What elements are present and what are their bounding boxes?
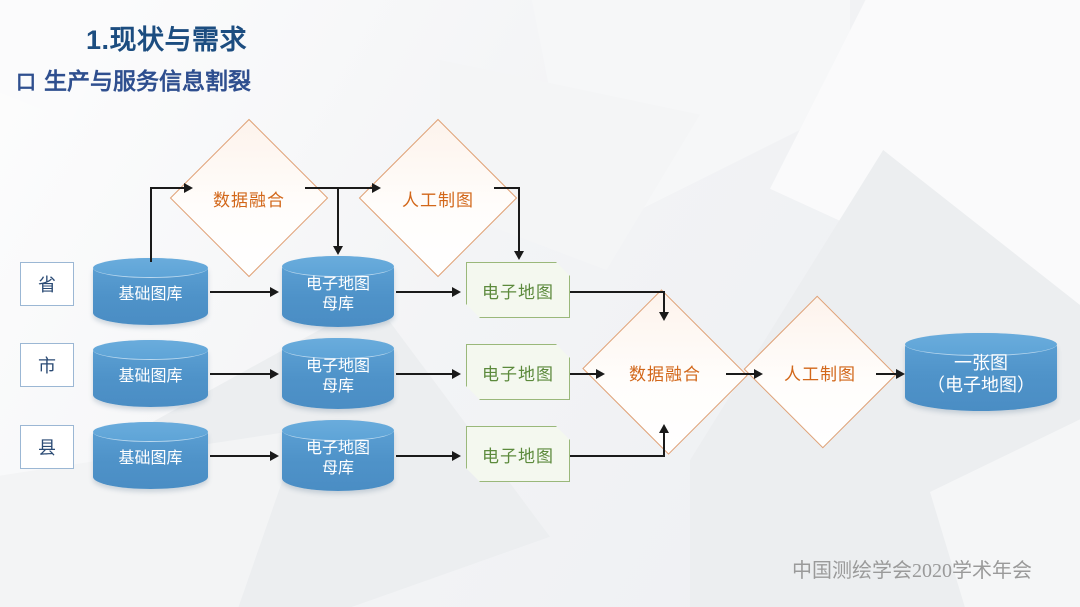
node-label-line1: 电子地图	[306, 440, 370, 457]
node-label-line2: 母库	[322, 296, 354, 313]
arrow-head	[372, 183, 381, 193]
level-label-city: 市	[20, 343, 74, 387]
connector-line	[150, 187, 152, 262]
node-label: 数据融合	[213, 186, 285, 211]
background-facet	[770, 0, 1080, 340]
node-label: 基础图库	[118, 443, 182, 469]
square-bullet-icon: 口	[16, 72, 36, 94]
node-map-master-library-province: 电子地图 母库	[282, 256, 394, 327]
slide-canvas: 1.现状与需求 口生产与服务信息割裂 省 市 县 基础图库 电子地图 母库 电子…	[0, 0, 1080, 607]
connector-line	[210, 373, 272, 375]
connector-line	[494, 187, 520, 189]
node-label: 电子地图 母库	[306, 269, 370, 314]
node-base-library-province: 基础图库	[93, 258, 208, 325]
node-label-line2: 母库	[322, 460, 354, 477]
node-electronic-map-province: 电子地图	[466, 262, 570, 318]
slide-subtitle: 口生产与服务信息割裂	[16, 62, 251, 96]
node-label: 电子地图 母库	[306, 433, 370, 478]
connector-line	[210, 291, 272, 293]
connector-line	[570, 455, 665, 457]
node-label: 人工制图	[402, 186, 474, 211]
node-label: 人工制图	[784, 360, 856, 385]
arrow-head	[596, 369, 605, 379]
node-base-library-county: 基础图库	[93, 422, 208, 489]
connector-line	[396, 373, 454, 375]
connector-line	[396, 291, 454, 293]
arrow-head	[270, 287, 279, 297]
node-electronic-map-county: 电子地图	[466, 426, 570, 482]
node-label-line2: （电子地图）	[927, 375, 1035, 395]
slide-title: 1.现状与需求	[86, 18, 247, 57]
node-data-fusion-merge: 数据融合	[604, 316, 726, 428]
node-label: 基础图库	[118, 361, 182, 387]
node-electronic-map-city: 电子地图	[466, 344, 570, 400]
arrow-head	[659, 424, 669, 433]
level-label-county: 县	[20, 425, 74, 469]
node-label-line1: 一张图	[954, 353, 1008, 373]
node-label-line1: 电子地图	[306, 276, 370, 293]
node-data-fusion-top: 数据融合	[193, 142, 305, 254]
arrow-head	[896, 369, 905, 379]
node-label-line2: 母库	[322, 378, 354, 395]
node-label: 电子地图	[482, 442, 554, 467]
background-facet	[520, 0, 850, 240]
node-label: 电子地图	[482, 360, 554, 385]
arrow-head	[333, 246, 343, 255]
connector-line	[518, 187, 520, 253]
node-manual-mapping-top: 人工制图	[382, 142, 494, 254]
connector-line	[305, 187, 375, 189]
connector-line	[150, 187, 186, 189]
arrow-head	[754, 369, 763, 379]
level-label-province: 省	[20, 262, 74, 306]
level-label-text: 省	[38, 271, 56, 297]
node-base-library-city: 基础图库	[93, 340, 208, 407]
arrow-head	[514, 251, 524, 260]
connector-line	[396, 455, 454, 457]
slide-subtitle-text: 生产与服务信息割裂	[44, 68, 251, 94]
footer-text: 中国测绘学会2020学术年会	[792, 554, 1032, 583]
node-map-master-library-county: 电子地图 母库	[282, 420, 394, 491]
node-label: 基础图库	[118, 279, 182, 305]
arrow-head	[270, 451, 279, 461]
node-label: 电子地图 母库	[306, 351, 370, 396]
arrow-head	[270, 369, 279, 379]
arrow-head	[452, 287, 461, 297]
arrow-head	[184, 183, 193, 193]
level-label-text: 市	[38, 352, 56, 378]
connector-line	[210, 455, 272, 457]
arrow-head	[659, 312, 669, 321]
node-label: 数据融合	[629, 360, 701, 385]
node-label-line1: 电子地图	[306, 358, 370, 375]
connector-line	[570, 291, 665, 293]
node-manual-mapping-final: 人工制图	[764, 320, 876, 424]
connector-line	[337, 187, 339, 249]
node-one-map-output: 一张图 （电子地图）	[905, 333, 1057, 411]
arrow-head	[452, 369, 461, 379]
node-label: 电子地图	[482, 278, 554, 303]
arrow-head	[452, 451, 461, 461]
level-label-text: 县	[38, 434, 56, 460]
node-map-master-library-city: 电子地图 母库	[282, 338, 394, 409]
node-label: 一张图 （电子地图）	[927, 347, 1035, 397]
